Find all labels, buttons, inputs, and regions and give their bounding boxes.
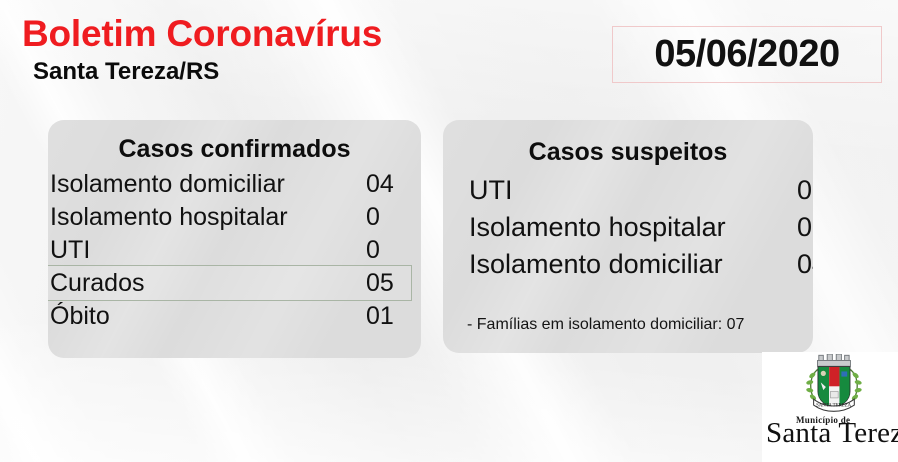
coat-of-arms-icon: SANTA TEREZA xyxy=(800,354,866,416)
families-isolation-footnote: - Famílias em isolamento domiciliar: 07 xyxy=(467,316,744,334)
row-value: 04 xyxy=(366,170,394,199)
table-row: UTI 0 xyxy=(48,236,421,268)
table-row: Isolamento hospitalar 0 xyxy=(467,212,813,244)
table-row: Isolamento domiciliar 04 xyxy=(467,249,813,281)
page-title: Boletim Coronavírus xyxy=(22,13,382,55)
suspected-cases-panel: Casos suspeitos UTI 01 Isolamento hospit… xyxy=(443,120,813,353)
boletim-slide: Boletim Coronavírus Santa Tereza/RS 05/0… xyxy=(0,0,898,462)
municipality-logo: SANTA TEREZA Município de Santa Tereza xyxy=(762,352,898,462)
row-label: Isolamento hospitalar xyxy=(469,212,726,243)
table-row: Isolamento hospitalar 0 xyxy=(48,203,421,235)
logo-wordmark: Município de Santa Tereza xyxy=(762,410,898,456)
logo-municipality-name: Santa Tereza xyxy=(766,417,898,450)
table-row-highlighted: Curados 05 xyxy=(48,269,421,301)
table-row: Óbito 01 xyxy=(48,302,421,334)
row-value: 05 xyxy=(366,269,394,298)
row-label: Isolamento domiciliar xyxy=(50,170,285,199)
table-row: UTI 01 xyxy=(467,175,813,207)
crest-motto-text: SANTA TEREZA xyxy=(816,403,852,408)
row-value: 0 xyxy=(366,236,380,265)
date-box: 05/06/2020 xyxy=(612,26,882,83)
date-text: 05/06/2020 xyxy=(654,33,839,76)
suspected-cases-title: Casos suspeitos xyxy=(443,138,813,167)
confirmed-cases-panel: Casos confirmados Isolamento domiciliar … xyxy=(48,120,421,358)
row-value: 0 xyxy=(366,203,380,232)
row-value: 01 xyxy=(797,175,813,206)
row-value: 0 xyxy=(797,212,812,243)
row-value: 04 xyxy=(797,249,813,280)
row-label: UTI xyxy=(50,236,90,265)
row-label: UTI xyxy=(469,175,513,206)
row-label: Óbito xyxy=(50,302,110,331)
row-value: 01 xyxy=(366,302,394,331)
page-subtitle: Santa Tereza/RS xyxy=(33,58,219,86)
row-label: Curados xyxy=(50,269,145,298)
confirmed-cases-title: Casos confirmados xyxy=(48,135,421,164)
table-row: Isolamento domiciliar 04 xyxy=(48,170,421,202)
row-label: Isolamento hospitalar xyxy=(50,203,288,232)
row-label: Isolamento domiciliar xyxy=(469,249,723,280)
